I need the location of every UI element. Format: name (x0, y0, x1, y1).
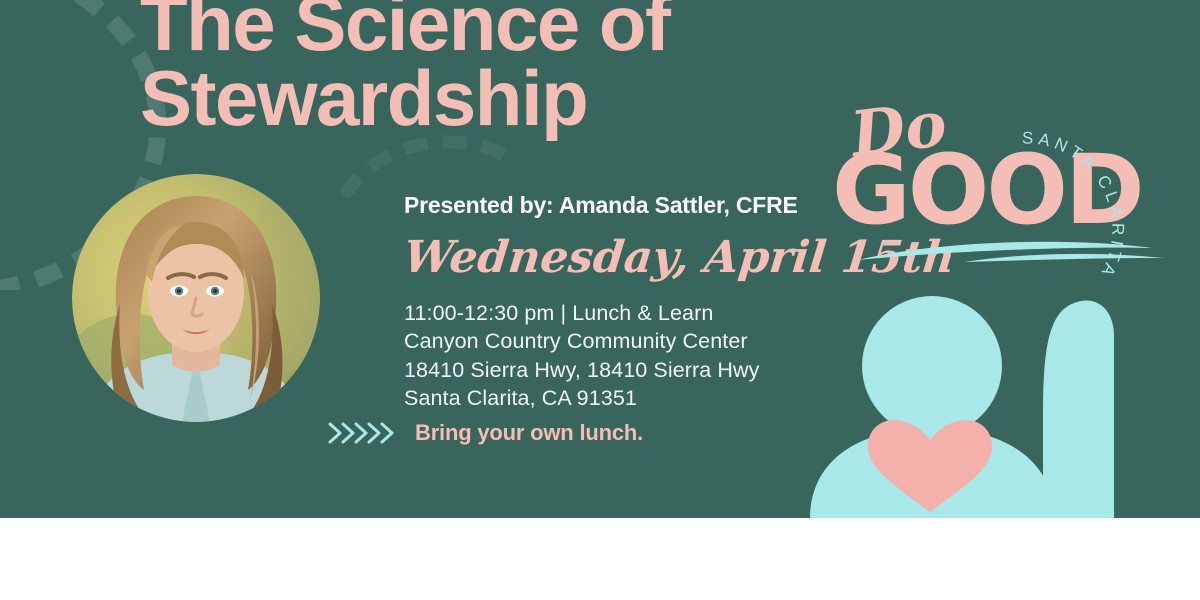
presenter-line: Presented by: Amanda Sattler, CFRE (404, 192, 798, 219)
detail-street: 18410 Sierra Hwy, 18410 Sierra Hwy (404, 356, 760, 384)
event-flyer: The Science of Stewardship (0, 0, 1200, 600)
flyer-main-panel: The Science of Stewardship (0, 0, 1200, 518)
lunch-note-text: Bring your own lunch. (415, 420, 643, 446)
title-line-2: Stewardship (140, 61, 860, 136)
event-details: 11:00-12:30 pm | Lunch & Learn Canyon Co… (404, 299, 760, 413)
raised-hand-figure-illustration (800, 262, 1200, 518)
page-title: The Science of Stewardship (140, 0, 860, 136)
headshot-illustration (72, 174, 320, 422)
lunch-note-row: Bring your own lunch. (327, 420, 643, 446)
detail-city-state-zip: Santa Clarita, CA 91351 (404, 384, 760, 412)
do-good-logo: Do GOOD SANTA CLARITA (828, 96, 1188, 286)
sponsor-logo-bar: AFP Association of Fundraising Professio… (0, 518, 1200, 600)
chevrons-icon (327, 420, 401, 446)
speaker-headshot (72, 174, 320, 422)
detail-venue: Canyon Country Community Center (404, 327, 760, 355)
detail-time-type: 11:00-12:30 pm | Lunch & Learn (404, 299, 760, 327)
